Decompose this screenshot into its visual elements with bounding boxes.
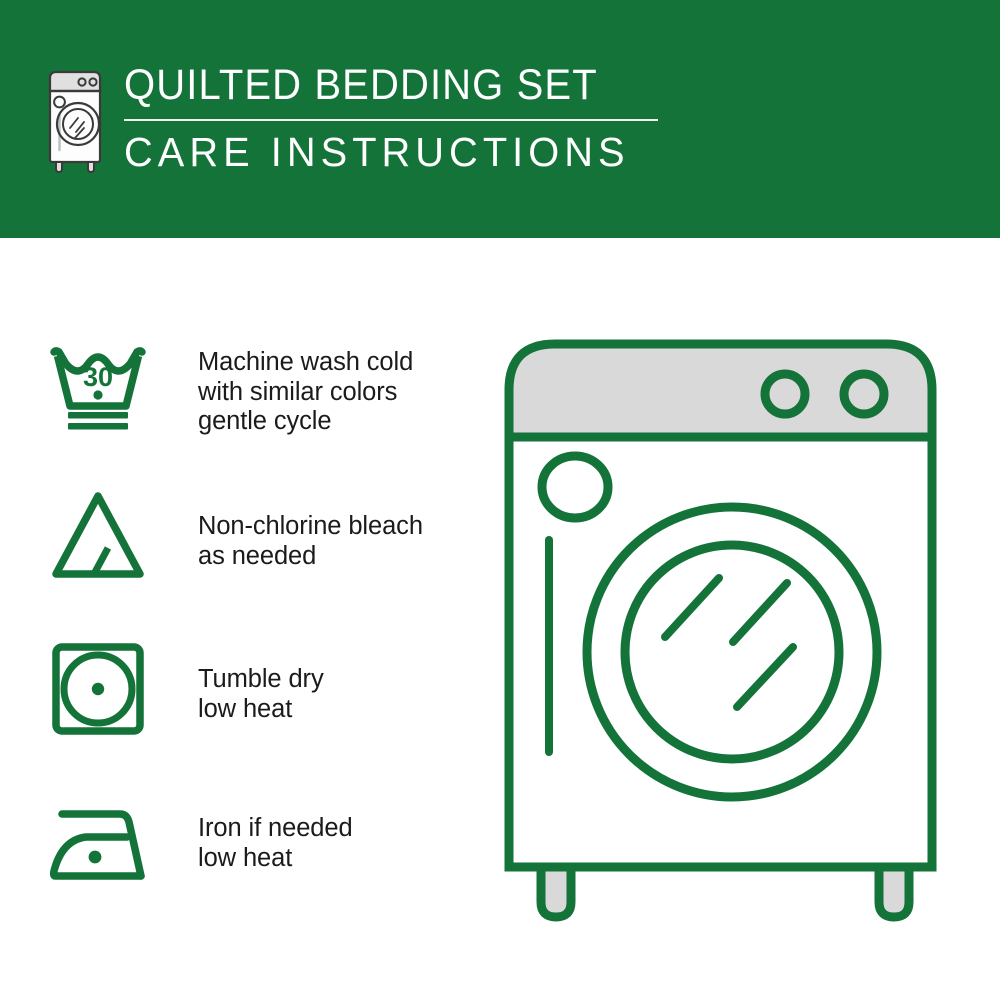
page-subtitle: CARE INSTRUCTIONS xyxy=(124,129,642,175)
washing-machine-illustration xyxy=(497,332,967,932)
care-instruction-item: Non-chlorine bleach as needed xyxy=(48,488,423,580)
tumble-dry-square-icon xyxy=(48,643,160,735)
bleach-triangle-icon xyxy=(48,488,160,580)
care-instruction-text: Iron if needed low heat xyxy=(198,796,353,873)
wash-tub-30-icon: 30 xyxy=(48,342,160,434)
care-instruction-item: 30 Machine wash cold with similar colors… xyxy=(48,342,413,437)
care-instruction-text: Non-chlorine bleach as needed xyxy=(198,488,423,571)
care-instruction-item: Tumble dry low heat xyxy=(48,643,324,735)
washing-machine-icon xyxy=(44,62,106,174)
header-banner: QUILTED BEDDING SET CARE INSTRUCTIONS xyxy=(0,0,1000,238)
care-instruction-text: Tumble dry low heat xyxy=(198,643,324,724)
wash-temperature-label: 30 xyxy=(83,362,113,392)
care-instruction-list: 30 Machine wash cold with similar colors… xyxy=(0,238,500,1000)
machine-leg xyxy=(879,867,909,917)
page-title: QUILTED BEDDING SET xyxy=(124,62,621,109)
machine-leg xyxy=(541,867,571,917)
care-instruction-item: Iron if needed low heat xyxy=(48,796,353,888)
title-divider xyxy=(124,119,658,121)
iron-icon xyxy=(48,796,160,888)
control-panel xyxy=(509,344,932,437)
header-content: QUILTED BEDDING SET CARE INSTRUCTIONS xyxy=(44,62,658,175)
header-titles: QUILTED BEDDING SET CARE INSTRUCTIONS xyxy=(124,62,658,175)
care-instruction-text: Machine wash cold with similar colors ge… xyxy=(198,342,413,437)
